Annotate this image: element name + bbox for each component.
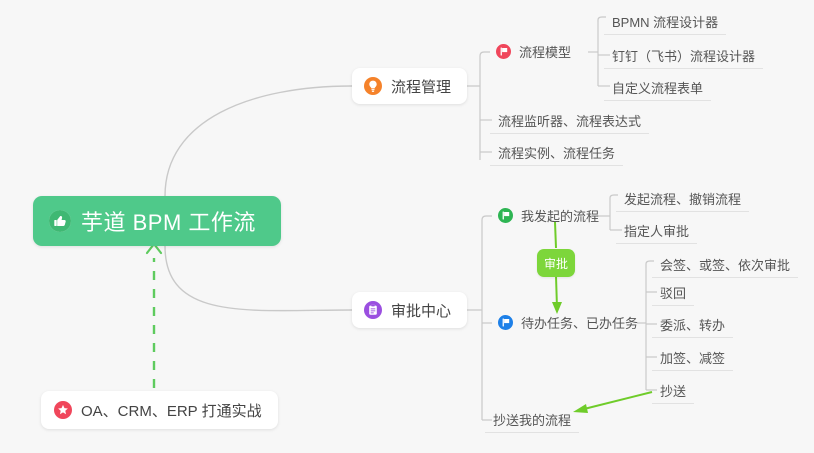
clipboard-icon (364, 301, 382, 319)
node-process-model[interactable]: 流程模型 (490, 38, 579, 65)
node-label: BPMN 流程设计器 (612, 12, 718, 31)
node-label: 会签、或签、依次审批 (660, 255, 790, 274)
node-label: 流程模型 (519, 42, 571, 61)
node-label: 待办任务、已办任务 (521, 313, 638, 332)
approval-badge[interactable]: 审批 (537, 249, 575, 277)
node-label: 钉钉（飞书）流程设计器 (612, 46, 755, 65)
flag-icon (498, 208, 513, 223)
node-process-listener[interactable]: 流程监听器、流程表达式 (490, 107, 649, 134)
node-label: 委派、转办 (660, 315, 725, 334)
lightbulb-icon (364, 77, 382, 95)
node-carbon-copy[interactable]: 抄送 (652, 377, 694, 404)
node-my-initiated-process[interactable]: 我发起的流程 (492, 202, 607, 229)
approval-badge-label: 审批 (544, 255, 568, 272)
node-dingtalk-designer[interactable]: 钉钉（飞书）流程设计器 (604, 42, 763, 69)
root-label: 芋道 BPM 工作流 (81, 205, 256, 237)
flag-icon (498, 315, 513, 330)
node-label: 我发起的流程 (521, 206, 599, 225)
node-countersign[interactable]: 会签、或签、依次审批 (652, 251, 798, 278)
node-label: 流程监听器、流程表达式 (498, 111, 641, 130)
callout-label: OA、CRM、ERP 打通实战 (81, 400, 262, 421)
node-label: 驳回 (660, 283, 686, 302)
star-icon (54, 401, 72, 419)
node-start-cancel-process[interactable]: 发起流程、撤销流程 (616, 185, 749, 212)
node-label: 抄送 (660, 381, 686, 400)
node-custom-form[interactable]: 自定义流程表单 (604, 74, 711, 101)
thumbs-up-icon (49, 210, 71, 232)
node-label: 流程实例、流程任务 (498, 143, 615, 162)
flag-icon (496, 44, 511, 59)
node-label: 指定人审批 (624, 221, 689, 240)
node-bpmn-designer[interactable]: BPMN 流程设计器 (604, 8, 726, 35)
node-label: 抄送我的流程 (493, 410, 571, 429)
root-node[interactable]: 芋道 BPM 工作流 (33, 196, 281, 246)
node-label: 自定义流程表单 (612, 78, 703, 97)
node-label: 发起流程、撤销流程 (624, 189, 741, 208)
node-delegate-transfer[interactable]: 委派、转办 (652, 311, 733, 338)
node-todo-done-tasks[interactable]: 待办任务、已办任务 (492, 309, 646, 336)
node-assignee-approval[interactable]: 指定人审批 (616, 217, 697, 244)
branch-node-process-management[interactable]: 流程管理 (352, 68, 467, 104)
branch-label: 审批中心 (391, 300, 451, 321)
callout-node-integration[interactable]: OA、CRM、ERP 打通实战 (41, 391, 278, 429)
branch-label: 流程管理 (391, 76, 451, 97)
node-reject[interactable]: 驳回 (652, 279, 694, 306)
node-add-remove-sign[interactable]: 加签、减签 (652, 344, 733, 371)
node-label: 加签、减签 (660, 348, 725, 367)
node-process-instance[interactable]: 流程实例、流程任务 (490, 139, 623, 166)
branch-node-approval-center[interactable]: 审批中心 (352, 292, 467, 328)
node-cc-to-me[interactable]: 抄送我的流程 (485, 406, 579, 433)
mindmap-canvas: 芋道 BPM 工作流 流程管理 流程模型 流程监听器、流程表达式 流程实例、流 (0, 0, 814, 453)
